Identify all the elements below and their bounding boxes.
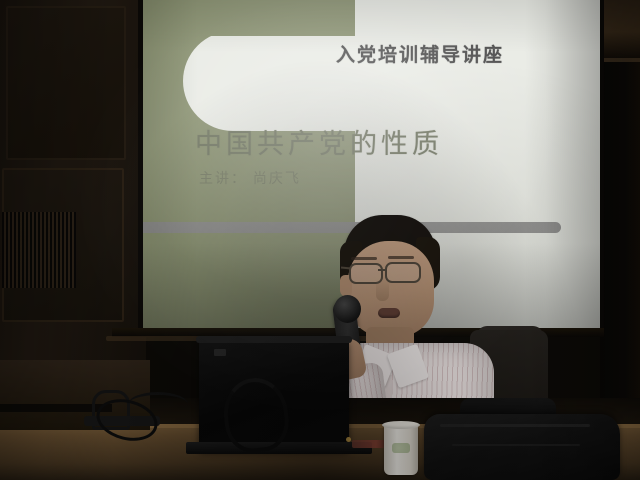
paper-cup-rim [382, 421, 420, 429]
presenter-eyebrow-left [351, 257, 377, 260]
photo-scene: 入党培训辅导讲座 中国共产党的性质 主讲： 尚庆飞 [0, 0, 640, 480]
slide-kicker-text: 入党培训辅导讲座 [255, 40, 585, 67]
right-wall-upper-trim [604, 0, 640, 58]
presenter-nose [376, 279, 389, 301]
glasses-lens-right [385, 262, 421, 283]
laptop-lid-top-edge [196, 336, 352, 343]
glasses-bridge [378, 269, 386, 271]
right-wall-trim-line [602, 58, 640, 62]
bag-seam-upper [440, 424, 590, 427]
bag-seam-lower [452, 444, 580, 446]
laptop-logo-icon [214, 349, 226, 356]
wall-air-vent-icon [2, 212, 76, 288]
slide-presenter-text: 主讲： 尚庆飞 [199, 168, 301, 188]
presenter-eyebrow-right [388, 256, 414, 259]
slide-main-heading: 中国共产党的性质 [195, 122, 575, 161]
slide-green-top-strip [143, 0, 355, 36]
laptop-power-led-icon [346, 437, 351, 442]
microphone-head-icon [334, 295, 361, 323]
wall-panel-upper [6, 6, 126, 160]
presenter-mouth [378, 308, 400, 318]
cable-loop-b [128, 392, 188, 417]
paper-cup-logo-icon [392, 443, 410, 453]
